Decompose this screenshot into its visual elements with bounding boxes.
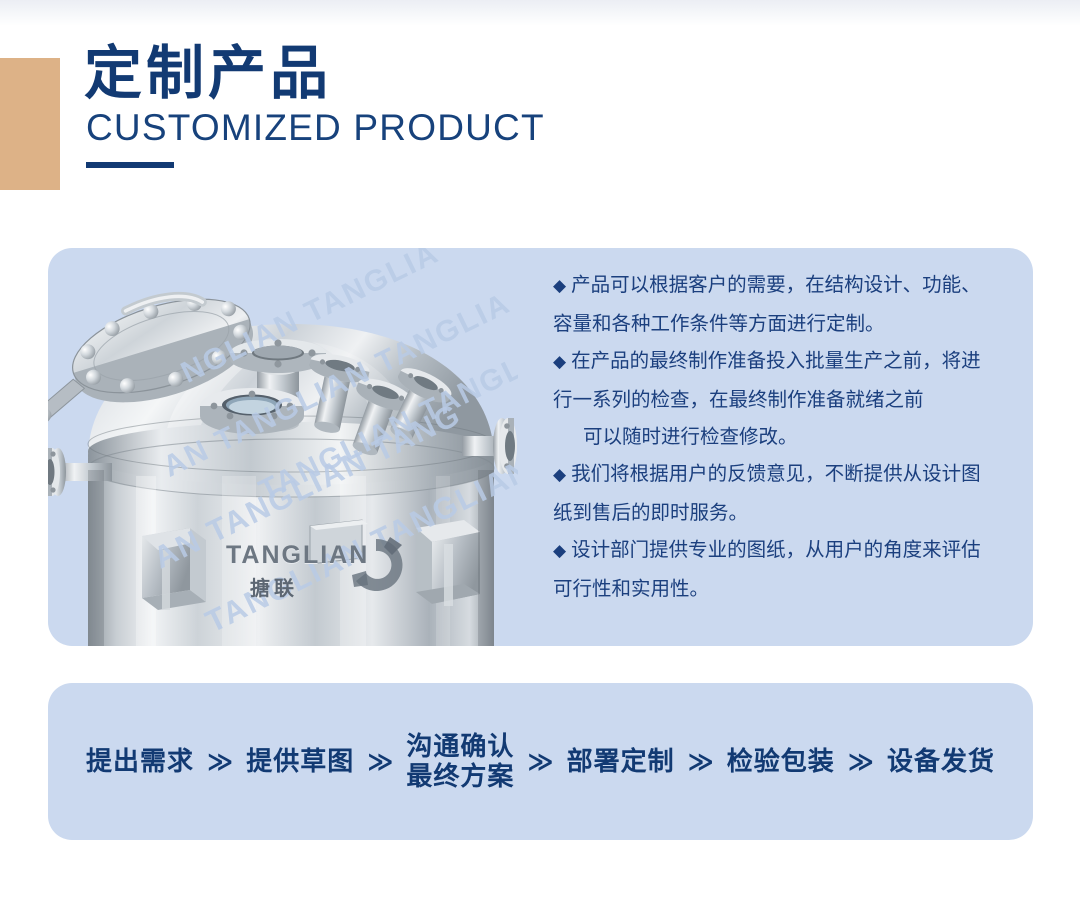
product-image-pane: AN TANGLIAN TANG TANGLIAN TANGLIAN AN TA…	[48, 248, 518, 646]
feature-text: 纸到售后的即时服务。	[553, 501, 748, 524]
step-label: 提出需求	[86, 747, 194, 777]
bullet-icon: ◆	[553, 541, 566, 561]
page-title-en: CUSTOMIZED PRODUCT	[86, 109, 545, 148]
feature-line: ◆我们将根据用户的反馈意见，不断提供从设计图	[553, 455, 1011, 494]
feature-text: 设计部门提供专业的图纸，从用户的角度来评估	[571, 538, 981, 561]
process-step-1[interactable]: 提出需求	[86, 747, 194, 777]
process-step-4[interactable]: 部署定制	[567, 747, 675, 777]
feature-text: 容量和各种工作条件等方面进行定制。	[553, 312, 885, 335]
feature-text: 在产品的最终制作准备投入批量生产之前，将进	[571, 349, 981, 372]
chevron-right-icon-2: ≫	[367, 749, 393, 774]
process-step-row: 提出需求 ≫ 提供草图 ≫ 沟通确认 最终方案 ≫ 部署定制 ≫ 检验包装 ≫ …	[48, 683, 1033, 840]
feature-line: 纸到售后的即时服务。	[553, 494, 1011, 531]
process-step-6[interactable]: 设备发货	[887, 747, 995, 777]
feature-line: ◆在产品的最终制作准备投入批量生产之前，将进	[553, 342, 1011, 381]
feature-line: 行一系列的检查，在最终制作准备就绪之前	[553, 381, 1011, 418]
process-step-2[interactable]: 提供草图	[246, 747, 354, 777]
page-title-cn: 定制产品	[84, 44, 545, 103]
feature-line: 可以随时进行检查修改。	[553, 418, 1011, 455]
chevron-right-icon-1: ≫	[207, 749, 233, 774]
chevron-right-icon-5: ≫	[848, 749, 874, 774]
process-flow-card: 提出需求 ≫ 提供草图 ≫ 沟通确认 最终方案 ≫ 部署定制 ≫ 检验包装 ≫ …	[48, 683, 1033, 840]
feature-text: 产品可以根据客户的需要，在结构设计、功能、	[571, 273, 981, 296]
bullet-icon: ◆	[553, 352, 566, 372]
page-header: 定制产品 CUSTOMIZED PRODUCT	[0, 0, 1080, 215]
feature-line: 容量和各种工作条件等方面进行定制。	[553, 305, 1011, 342]
bullet-icon: ◆	[553, 276, 566, 296]
step-label-line2: 最终方案	[406, 762, 514, 792]
process-step-5[interactable]: 检验包装	[727, 747, 835, 777]
title-underline-rule	[86, 162, 174, 168]
process-step-3[interactable]: 沟通确认 最终方案	[406, 732, 514, 792]
bullet-icon: ◆	[553, 465, 566, 485]
step-label: 设备发货	[887, 747, 995, 777]
product-info-card: AN TANGLIAN TANG TANGLIAN TANGLIAN AN TA…	[48, 248, 1033, 646]
support-lug-right	[416, 520, 480, 606]
feature-text: 可行性和实用性。	[553, 577, 709, 600]
support-lug-left	[142, 528, 206, 610]
nameplate	[310, 520, 368, 564]
feature-text: 行一系列的检查，在最终制作准备就绪之前	[553, 388, 924, 411]
feature-line: ◆产品可以根据客户的需要，在结构设计、功能、	[553, 266, 1011, 305]
feature-list: ◆产品可以根据客户的需要，在结构设计、功能、 容量和各种工作条件等方面进行定制。…	[553, 266, 1011, 607]
step-label: 检验包装	[727, 747, 835, 777]
feature-text: 可以随时进行检查修改。	[583, 425, 798, 448]
step-label: 提供草图	[246, 747, 354, 777]
chevron-right-icon-4: ≫	[688, 749, 714, 774]
feature-line: ◆设计部门提供专业的图纸，从用户的角度来评估	[553, 531, 1011, 570]
feature-line: 可行性和实用性。	[553, 570, 1011, 607]
feature-text: 我们将根据用户的反馈意见，不断提供从设计图	[571, 462, 981, 485]
pressure-vessel-illustration	[48, 258, 518, 646]
step-label: 沟通确认	[406, 732, 514, 762]
header-text-group: 定制产品 CUSTOMIZED PRODUCT	[84, 44, 545, 168]
chevron-right-icon-3: ≫	[527, 749, 553, 774]
step-label: 部署定制	[567, 747, 675, 777]
header-accent-bar	[0, 58, 60, 190]
sight-glass-nozzle	[200, 388, 304, 434]
